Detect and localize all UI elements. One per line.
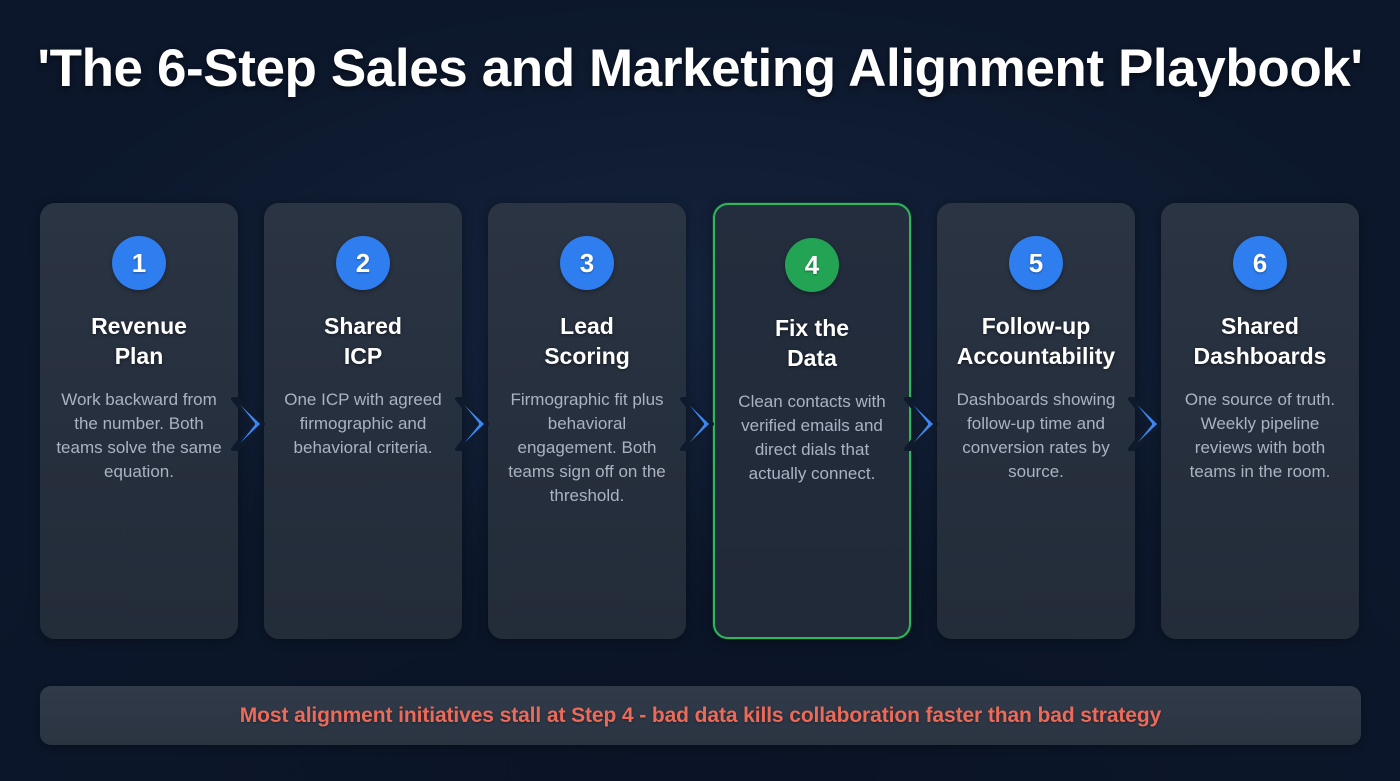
step-description-5: Dashboards showing follow-up time and co… — [949, 388, 1123, 484]
playbook-infographic: 'The 6-Step Sales and Marketing Alignmen… — [0, 0, 1400, 781]
step-number-badge-6: 6 — [1233, 236, 1287, 290]
chevron-right-icon — [676, 396, 720, 452]
chevron-right-icon — [1124, 396, 1168, 452]
step-card-1[interactable]: 1 Revenue Plan Work backward from the nu… — [40, 203, 238, 639]
page-title: 'The 6-Step Sales and Marketing Alignmen… — [0, 38, 1400, 100]
step-card-6[interactable]: 6 Shared Dashboards One source of truth.… — [1161, 203, 1359, 639]
step-number-badge-2: 2 — [336, 236, 390, 290]
step-title-4: Fix the Data — [775, 313, 849, 373]
step-number-badge-4: 4 — [785, 238, 839, 292]
step-number-badge-5: 5 — [1009, 236, 1063, 290]
step-description-4: Clean contacts with verified emails and … — [727, 390, 897, 486]
step-card-3[interactable]: 3 Lead Scoring Firmographic fit plus beh… — [488, 203, 686, 639]
warning-banner: Most alignment initiatives stall at Step… — [40, 686, 1361, 745]
step-number-badge-3: 3 — [560, 236, 614, 290]
step-title-2: Shared ICP — [324, 311, 402, 371]
step-description-3: Firmographic fit plus behavioral engagem… — [500, 388, 674, 508]
step-title-1: Revenue Plan — [91, 311, 187, 371]
step-description-1: Work backward from the number. Both team… — [52, 388, 226, 484]
warning-banner-text: Most alignment initiatives stall at Step… — [240, 704, 1161, 728]
step-title-5: Follow-up Accountability — [957, 311, 1115, 371]
chevron-right-icon — [227, 396, 271, 452]
chevron-right-icon — [900, 396, 944, 452]
step-description-2: One ICP with agreed firmographic and beh… — [276, 388, 450, 460]
step-card-4[interactable]: 4 Fix the Data Clean contacts with verif… — [713, 203, 911, 639]
step-card-2[interactable]: 2 Shared ICP One ICP with agreed firmogr… — [264, 203, 462, 639]
step-card-5[interactable]: 5 Follow-up Accountability Dashboards sh… — [937, 203, 1135, 639]
step-description-6: One source of truth. Weekly pipeline rev… — [1173, 388, 1347, 484]
chevron-right-icon — [451, 396, 495, 452]
step-title-6: Shared Dashboards — [1194, 311, 1327, 371]
step-number-badge-1: 1 — [112, 236, 166, 290]
step-title-3: Lead Scoring — [544, 311, 630, 371]
